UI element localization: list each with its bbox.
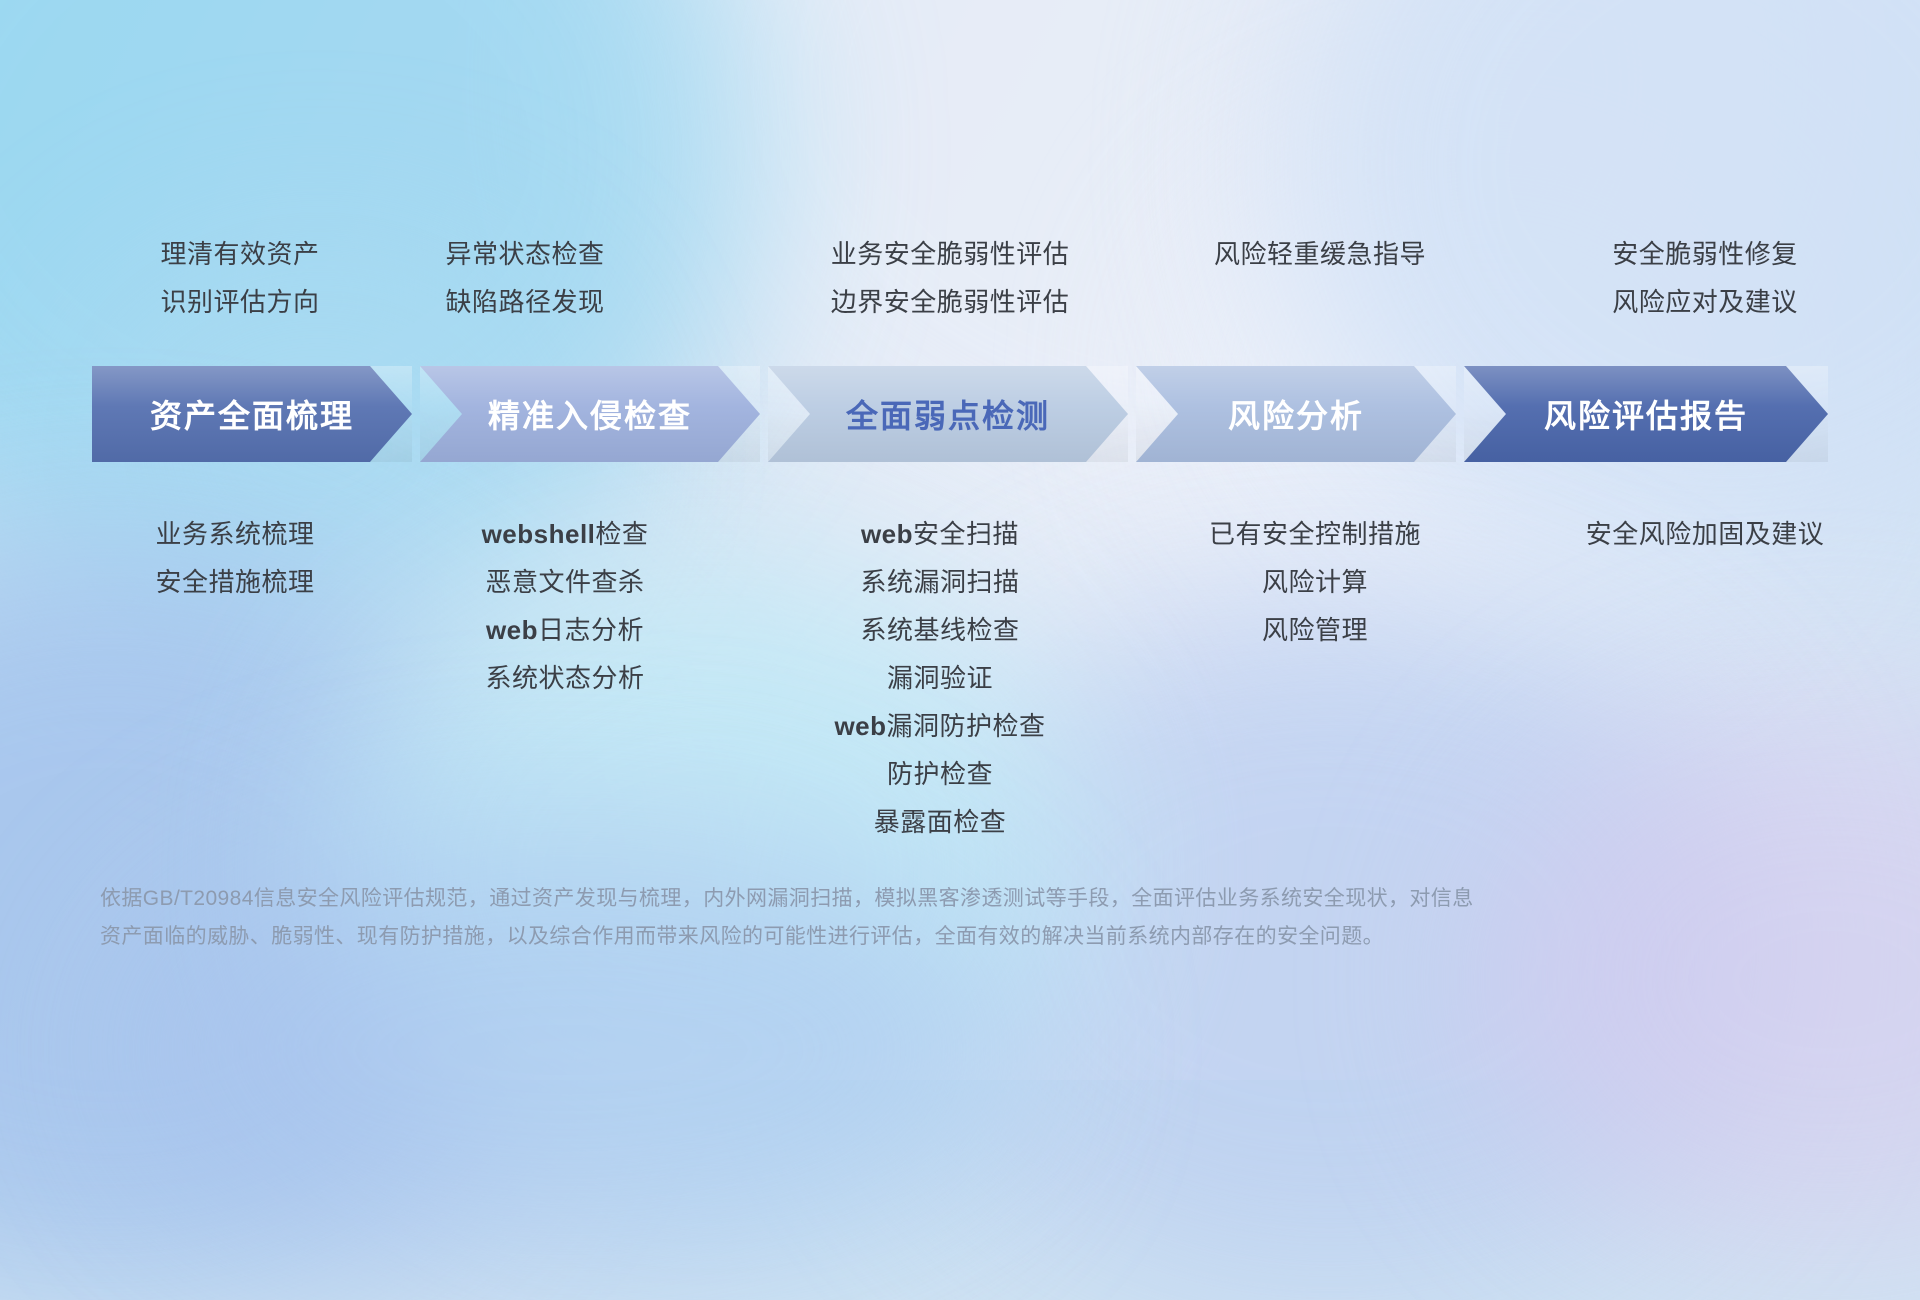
list-item-cjk: 风险管理 <box>1262 615 1368 645</box>
chevron-step-1[interactable]: 资产全面梳理 <box>92 366 412 462</box>
list-item: 漏洞验证 <box>740 654 1140 702</box>
footer-line-1: 依据GB/T20984信息安全风险评估规范，通过资产发现与梳理，内外网漏洞扫描，… <box>100 880 1620 918</box>
top-item: 边界安全脆弱性评估 <box>710 278 1190 326</box>
list-item-cjk: 恶意文件查杀 <box>485 567 644 597</box>
top-item: 风险轻重缓急指导 <box>1080 230 1560 278</box>
list-item-cjk: 风险计算 <box>1262 567 1368 597</box>
top-item: 缺陷路径发现 <box>325 278 725 326</box>
list-item: 已有安全控制措施 <box>1110 510 1520 558</box>
list-item-cjk: 检查 <box>595 519 648 549</box>
step-bottom-list-2: webshell检查恶意文件查杀web日志分析系统状态分析 <box>370 510 760 702</box>
list-item: 风险管理 <box>1110 606 1520 654</box>
list-item-cjk: 系统基线检查 <box>860 615 1019 645</box>
list-item: 安全风险加固及建议 <box>1490 510 1920 558</box>
list-item-cjk: 漏洞验证 <box>887 663 993 693</box>
chevron-label: 精准入侵检查 <box>488 391 692 437</box>
list-item-cjk: 系统漏洞扫描 <box>860 567 1019 597</box>
list-item-cjk: 漏洞防护检查 <box>887 711 1046 741</box>
chevron-label: 风险评估报告 <box>1544 391 1748 437</box>
list-item-latin: webshell <box>482 519 596 549</box>
list-item-latin: web <box>486 615 538 645</box>
list-item: 系统漏洞扫描 <box>740 558 1140 606</box>
step-bottom-list-4: 已有安全控制措施风险计算风险管理 <box>1110 510 1520 654</box>
list-item-cjk: 业务系统梳理 <box>155 519 314 549</box>
list-item-cjk: 已有安全控制措施 <box>1209 519 1421 549</box>
step-top-text-4: 风险轻重缓急指导 <box>1080 230 1560 278</box>
footer-description: 依据GB/T20984信息安全风险评估规范，通过资产发现与梳理，内外网漏洞扫描，… <box>100 880 1620 956</box>
list-item-cjk: 日志分析 <box>538 615 644 645</box>
chevron-label: 资产全面梳理 <box>150 391 354 437</box>
step-top-text-2: 异常状态检查 缺陷路径发现 <box>325 230 725 326</box>
footer-line-2: 资产面临的威胁、脆弱性、现有防护措施，以及综合作用而带来风险的可能性进行评估，全… <box>100 918 1620 956</box>
chevron-step-5[interactable]: 风险评估报告 <box>1464 366 1828 462</box>
chevron-step-3[interactable]: 全面弱点检测 <box>768 366 1128 462</box>
process-chevron-band: 资产全面梳理 精准入侵检查 全面弱点检测 风险分析 <box>0 366 1920 462</box>
list-item-cjk: 安全措施梳理 <box>155 567 314 597</box>
top-item: 风险应对及建议 <box>1505 278 1905 326</box>
list-item: 系统状态分析 <box>370 654 760 702</box>
top-item: 异常状态检查 <box>325 230 725 278</box>
list-item-cjk: 防护检查 <box>887 759 993 789</box>
list-item: web漏洞防护检查 <box>740 702 1140 750</box>
list-item: web日志分析 <box>370 606 760 654</box>
list-item: 风险计算 <box>1110 558 1520 606</box>
step-bottom-list-5: 安全风险加固及建议 <box>1490 510 1920 558</box>
step-top-text-5: 安全脆弱性修复 风险应对及建议 <box>1505 230 1905 326</box>
chevron-step-2[interactable]: 精准入侵检查 <box>420 366 760 462</box>
list-item-cjk: 暴露面检查 <box>874 807 1007 837</box>
list-item: 系统基线检查 <box>740 606 1140 654</box>
list-item: 防护检查 <box>740 750 1140 798</box>
list-item-cjk: 安全扫描 <box>913 519 1019 549</box>
list-item: webshell检查 <box>370 510 760 558</box>
chevron-label: 全面弱点检测 <box>846 391 1050 437</box>
list-item-latin: web <box>861 519 913 549</box>
chevron-step-4[interactable]: 风险分析 <box>1136 366 1456 462</box>
chevron-label: 风险分析 <box>1228 391 1364 437</box>
list-item-latin: web <box>834 711 886 741</box>
step-bottom-list-3: web安全扫描系统漏洞扫描系统基线检查漏洞验证web漏洞防护检查防护检查暴露面检… <box>740 510 1140 846</box>
list-item: 恶意文件查杀 <box>370 558 760 606</box>
list-item-cjk: 系统状态分析 <box>485 663 644 693</box>
list-item-cjk: 安全风险加固及建议 <box>1586 519 1825 549</box>
top-item: 安全脆弱性修复 <box>1505 230 1905 278</box>
list-item: 暴露面检查 <box>740 798 1140 846</box>
list-item: web安全扫描 <box>740 510 1140 558</box>
